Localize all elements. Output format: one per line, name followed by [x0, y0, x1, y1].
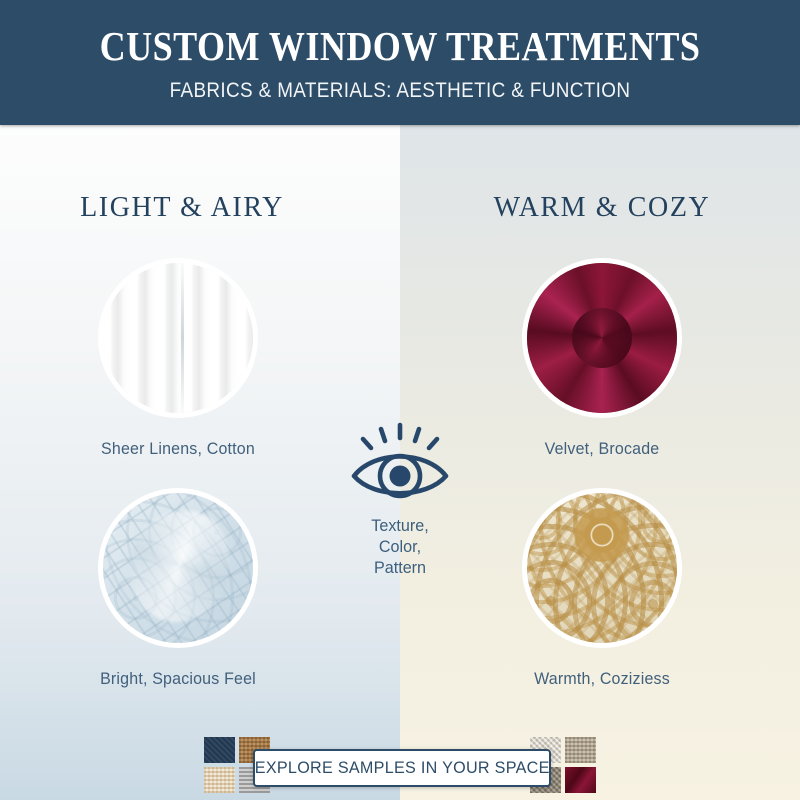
burgundy-velvet-texture [527, 263, 677, 413]
center-label-line-3: Pattern [343, 557, 457, 578]
eye-icon [340, 420, 460, 502]
navy-weave-swatch[interactable] [204, 737, 235, 763]
white-sheer-curtain-texture [103, 263, 253, 413]
center-focus-label: Texture, Color, Pattern [343, 515, 457, 578]
page-title: CUSTOM WINDOW TREATMENTS [48, 22, 752, 70]
burgundy-velvet-mini-swatch[interactable] [565, 767, 596, 793]
right-panel-background [400, 125, 800, 800]
center-focus-block: Texture, Color, Pattern [340, 420, 460, 578]
fabric-swatch-velvet[interactable] [522, 258, 682, 418]
taupe-weave-swatch[interactable] [565, 737, 596, 763]
section-heading-warm-cozy: WARM & COZY [437, 192, 767, 224]
fabric-swatch-botanical-print[interactable] [98, 488, 258, 648]
caption-damask-brocade: Warmth, Coziziess [447, 669, 757, 689]
blue-botanical-print-texture [103, 493, 253, 643]
center-label-line-2: Color, [343, 536, 457, 557]
caption-sheer-linen: Sheer Linens, Cotton [23, 439, 333, 459]
infographic-poster: CUSTOM WINDOW TREATMENTS FABRICS & MATER… [0, 0, 800, 800]
explore-samples-button-label: EXPLORE SAMPLES IN YOUR SPACE [255, 758, 550, 778]
cream-linen-swatch[interactable] [204, 767, 235, 793]
section-heading-light-airy: LIGHT & AIRY [17, 192, 347, 224]
center-label-line-1: Texture, [343, 515, 457, 536]
fabric-swatch-damask-brocade[interactable] [522, 488, 682, 648]
page-subtitle: FABRICS & MATERIALS: AESTHETIC & FUNCTIO… [40, 79, 760, 103]
gold-damask-brocade-texture [527, 493, 677, 643]
caption-velvet: Velvet, Brocade [447, 439, 757, 459]
header-banner: CUSTOM WINDOW TREATMENTS FABRICS & MATER… [0, 0, 800, 125]
caption-botanical-print: Bright, Spacious Feel [23, 669, 333, 689]
explore-samples-button[interactable]: EXPLORE SAMPLES IN YOUR SPACE [253, 749, 551, 787]
fabric-swatch-sheer-linen[interactable] [98, 258, 258, 418]
